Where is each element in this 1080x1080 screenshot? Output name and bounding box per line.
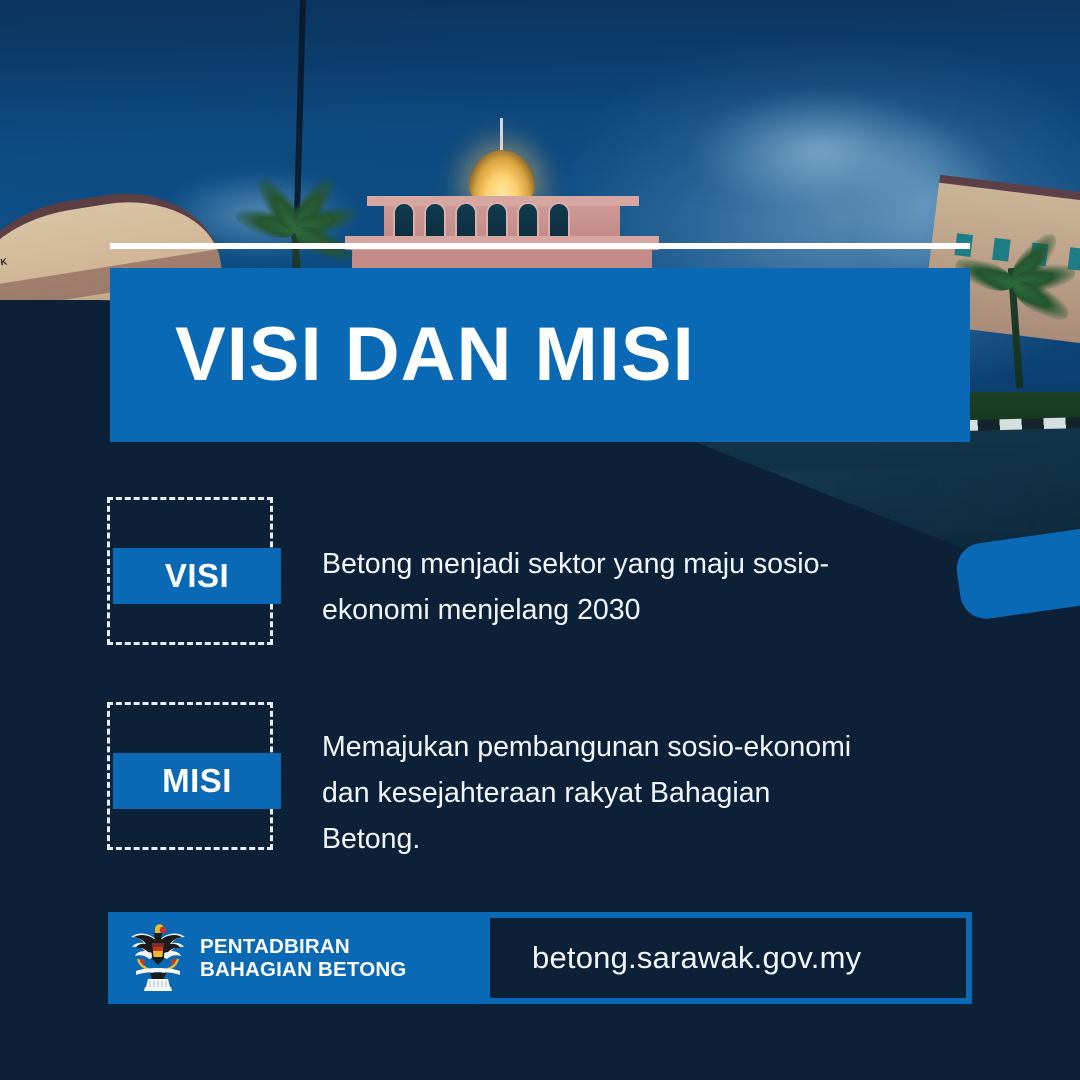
website-url[interactable]: betong.sarawak.gov.my — [532, 940, 861, 976]
footer-bar: PENTADBIRAN BAHAGIAN BETONG betong.saraw… — [108, 912, 972, 1004]
building-spire — [500, 118, 503, 152]
right-building-window — [992, 238, 1011, 262]
sarawak-coat-of-arms-icon — [126, 921, 190, 995]
website-url-panel[interactable]: betong.sarawak.gov.my — [490, 918, 966, 998]
visi-block: VISI Betong menjadi sektor yang maju sos… — [107, 497, 852, 645]
misi-tag-label: MISI — [162, 762, 232, 800]
brand-name-line1: PENTADBIRAN — [200, 935, 407, 958]
brand-name-line2: BAHAGIAN BETONG — [200, 958, 407, 981]
misi-tag-strip: MISI — [113, 753, 281, 809]
page-title: VISI DAN MISI — [175, 317, 695, 393]
brand-name: PENTADBIRAN BAHAGIAN BETONG — [200, 935, 407, 981]
visi-tag-strip: VISI — [113, 548, 281, 604]
visi-tag-box: VISI — [107, 497, 273, 645]
misi-text: Memajukan pembangunan sosio-ekonomi dan … — [322, 702, 852, 862]
poster-canvas: BLOK A — [0, 0, 1080, 1080]
header-rule — [110, 243, 970, 249]
visi-text: Betong menjadi sektor yang maju sosio-ek… — [322, 497, 852, 633]
misi-block: MISI Memajukan pembangunan sosio-ekonomi… — [107, 702, 852, 862]
visi-tag-label: VISI — [165, 557, 229, 595]
misi-tag-box: MISI — [107, 702, 273, 850]
title-banner: VISI DAN MISI — [110, 268, 970, 442]
blok-a-label-line2: A — [0, 267, 10, 282]
footer-brand: PENTADBIRAN BAHAGIAN BETONG — [108, 912, 490, 1004]
blok-a-label: BLOK A — [0, 256, 10, 282]
